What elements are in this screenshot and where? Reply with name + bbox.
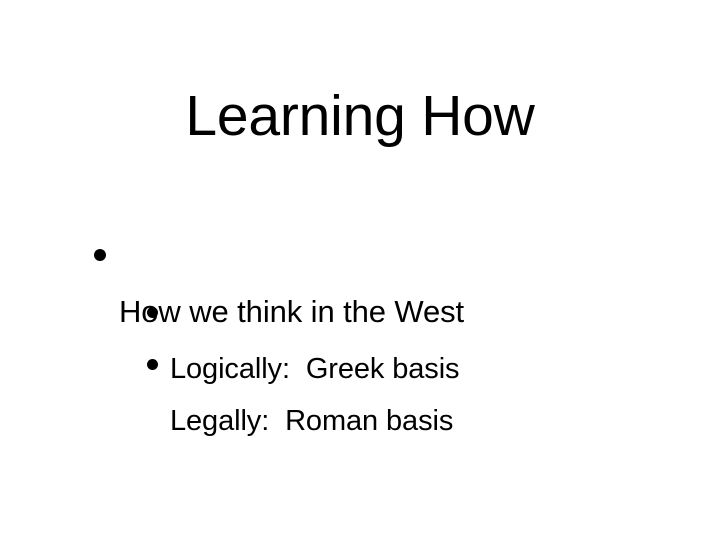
bullet-item-level-1: How we think in the West: [0, 240, 720, 292]
bullet-item-level-2: Legally: Roman basis: [0, 350, 720, 402]
bullet-item-level-2: Logically: Greek basis: [0, 298, 720, 350]
presentation-slide: Learning How How we think in the West Lo…: [0, 0, 720, 540]
bullet-item-label: Legally: Roman basis: [170, 404, 720, 438]
slide-body-bullet-list: How we think in the West Logically: Gree…: [0, 240, 720, 402]
bullet-dot-icon: [147, 307, 158, 318]
bullet-dot-icon: [94, 249, 106, 261]
bullet-dot-icon: [147, 359, 158, 370]
slide-title: Learning How: [0, 86, 720, 148]
